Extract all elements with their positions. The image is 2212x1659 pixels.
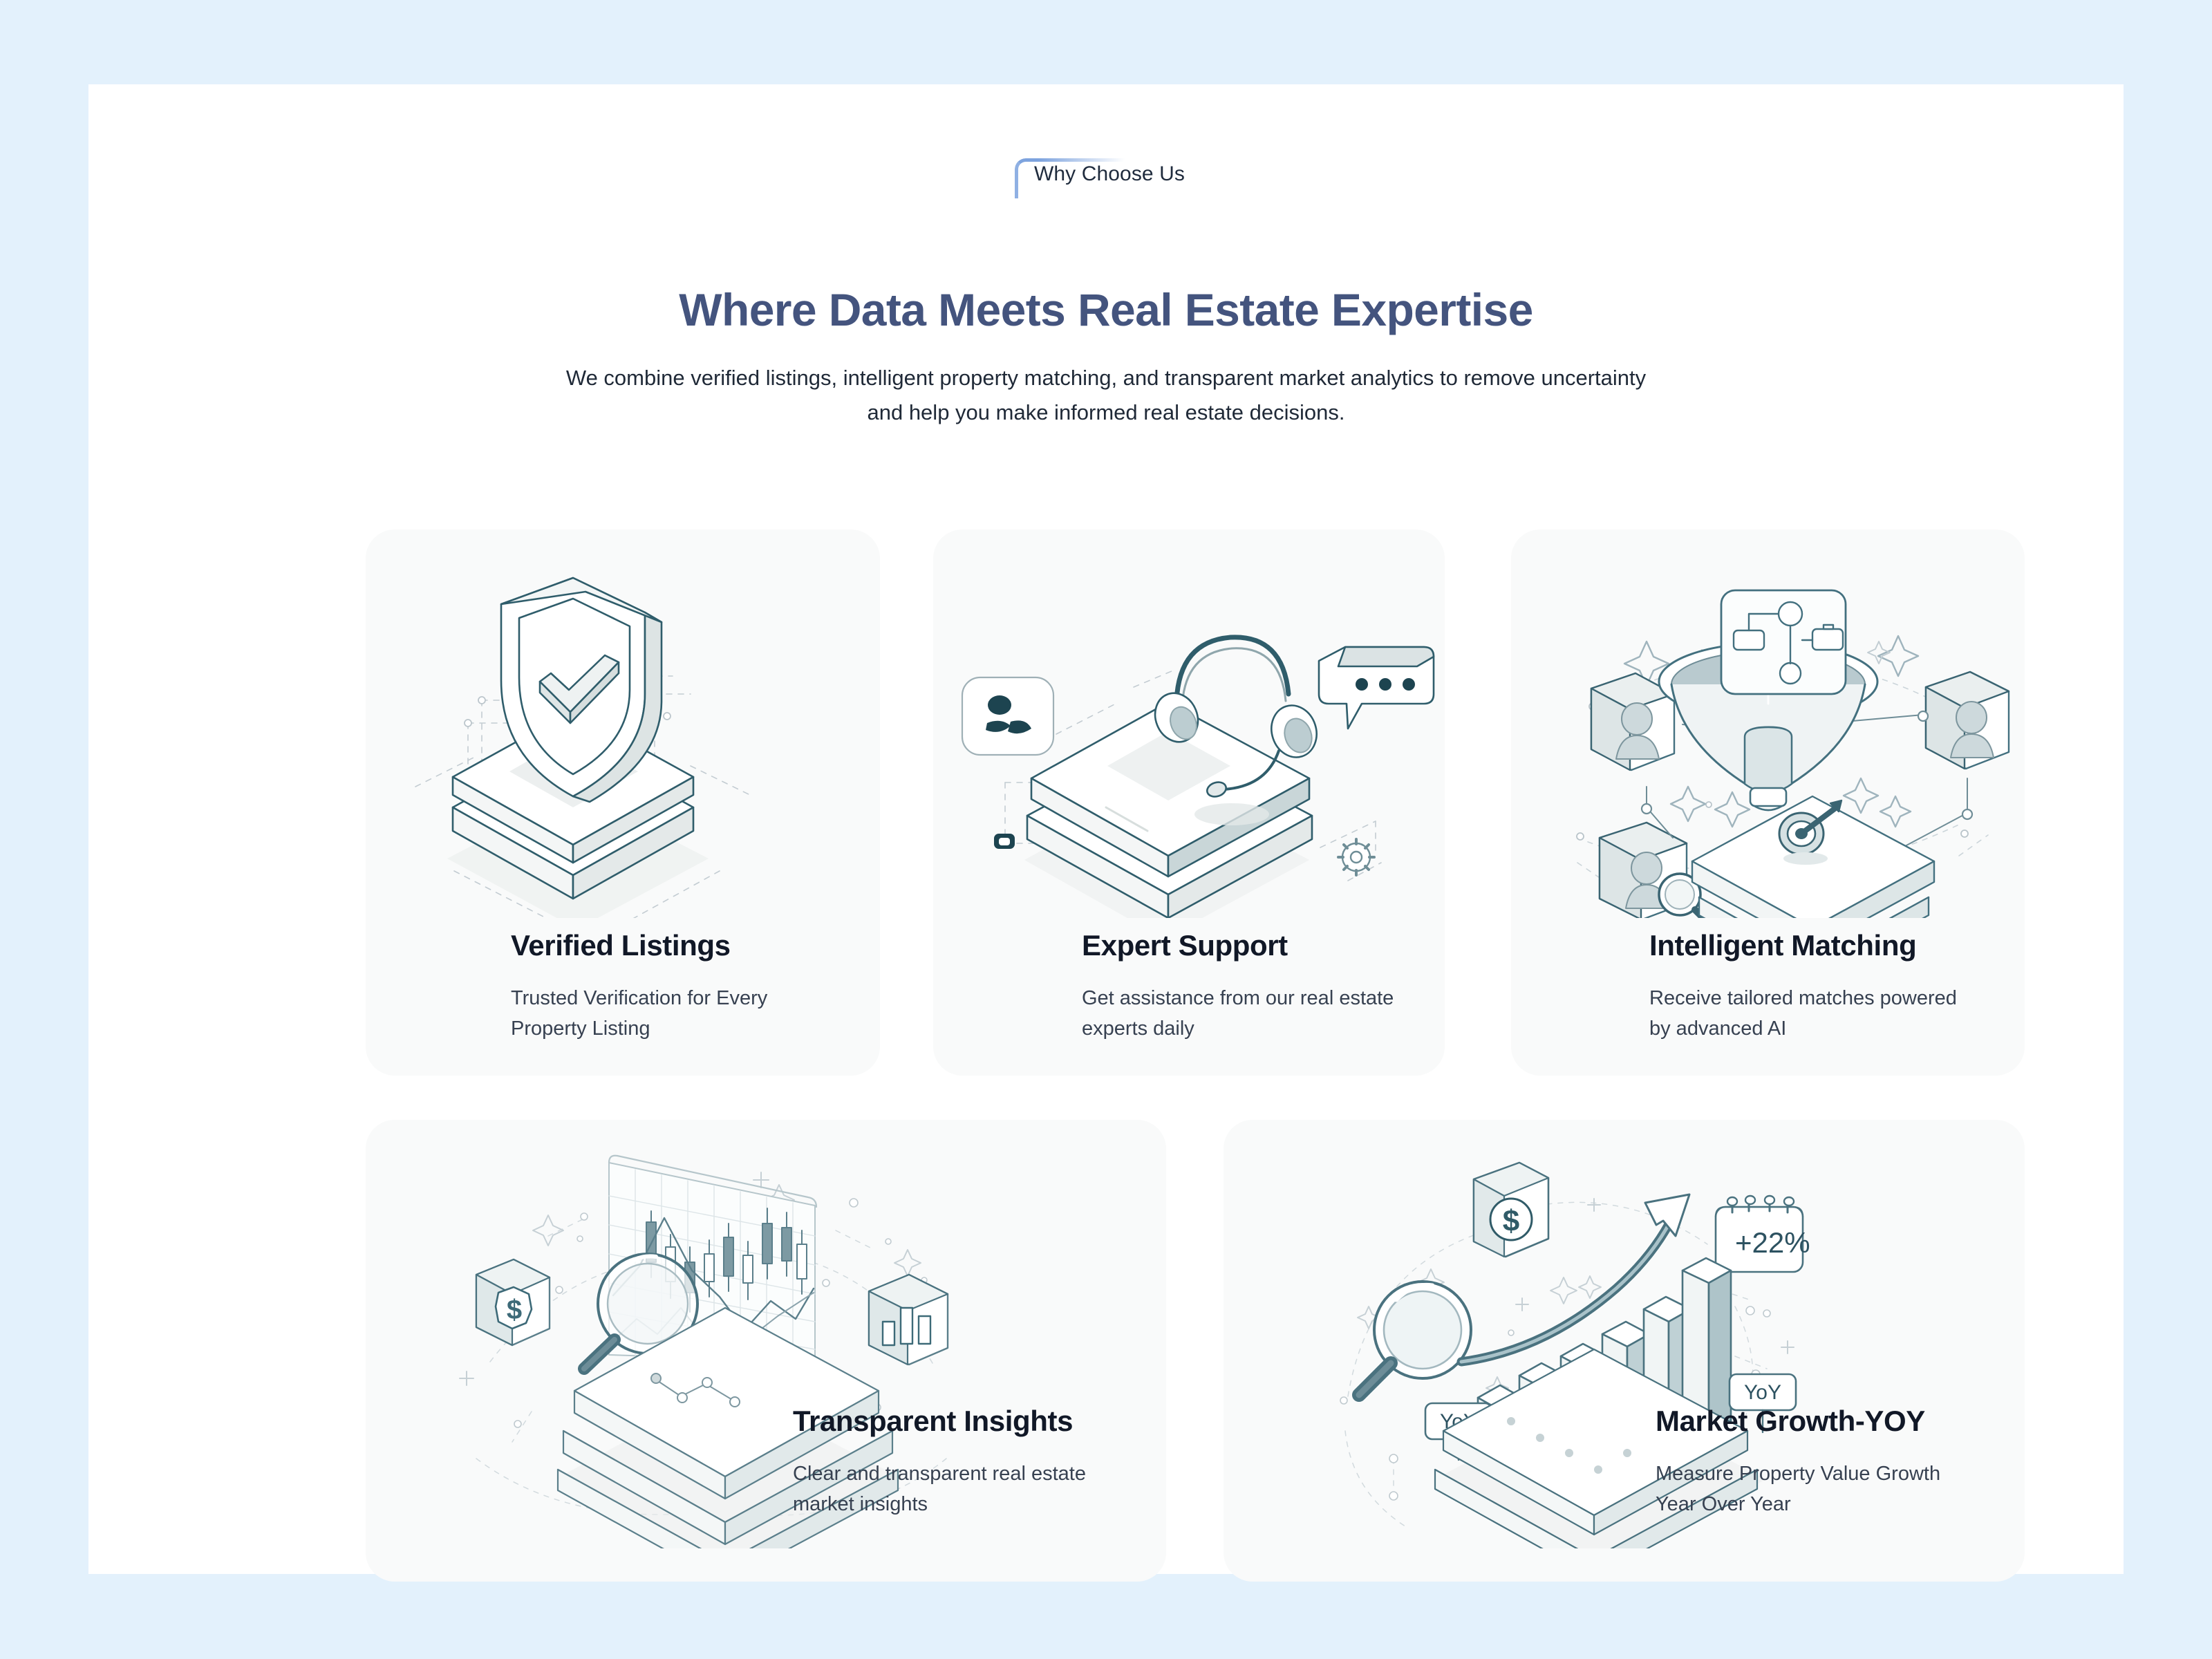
feature-card-intelligent-matching[interactable]: Intelligent Matching Receive tailored ma… <box>1511 529 2025 1076</box>
card-title: Verified Listings <box>511 929 880 962</box>
badge-label: Why Choose Us <box>1034 162 1185 185</box>
card-text-block: Intelligent Matching Receive tailored ma… <box>1649 929 2025 1044</box>
page-subtitle: We combine verified listings, intelligen… <box>546 361 1666 430</box>
card-text-block: Expert Support Get assistance from our r… <box>1082 929 1445 1044</box>
svg-text:$: $ <box>1503 1204 1519 1238</box>
card-title: Transparent Insights <box>793 1405 1166 1438</box>
card-description: Receive tailored matches powered by adva… <box>1649 983 1974 1044</box>
card-description: Clear and transparent real estate market… <box>793 1459 1118 1519</box>
feature-card-market-growth-yoy[interactable]: $ +22% <box>1224 1120 2025 1582</box>
card-text-block: Verified Listings Trusted Verification f… <box>511 929 880 1044</box>
feature-card-verified-listings[interactable]: Verified Listings Trusted Verification f… <box>366 529 880 1076</box>
headset-support-illustration <box>933 559 1445 918</box>
card-text-block: Market Growth-YOY Measure Property Value… <box>1656 1405 2025 1519</box>
card-title: Expert Support <box>1082 929 1445 962</box>
funnel-matching-illustration <box>1511 559 2025 918</box>
page-title: Where Data Meets Real Estate Expertise <box>88 283 2124 336</box>
dollar-symbol: $ <box>507 1295 522 1325</box>
card-text-block: Transparent Insights Clear and transpare… <box>793 1405 1166 1519</box>
card-description: Get assistance from our real estate expe… <box>1082 983 1407 1044</box>
shield-check-illustration <box>366 559 880 918</box>
card-description: Measure Property Value Growth Year Over … <box>1656 1459 1980 1519</box>
growth-percent-label: +22% <box>1735 1226 1810 1259</box>
feature-card-expert-support[interactable]: Expert Support Get assistance from our r… <box>933 529 1445 1076</box>
card-description: Trusted Verification for Every Property … <box>511 983 836 1044</box>
feature-card-transparent-insights[interactable]: $ <box>366 1120 1166 1582</box>
card-title: Market Growth-YOY <box>1656 1405 2025 1438</box>
card-title: Intelligent Matching <box>1649 929 2025 962</box>
yoy-label-right: YoY <box>1744 1381 1781 1404</box>
content-panel: Why Choose Us Where Data Meets Real Esta… <box>88 84 2124 1574</box>
why-choose-us-badge: Why Choose Us <box>1015 158 1197 189</box>
